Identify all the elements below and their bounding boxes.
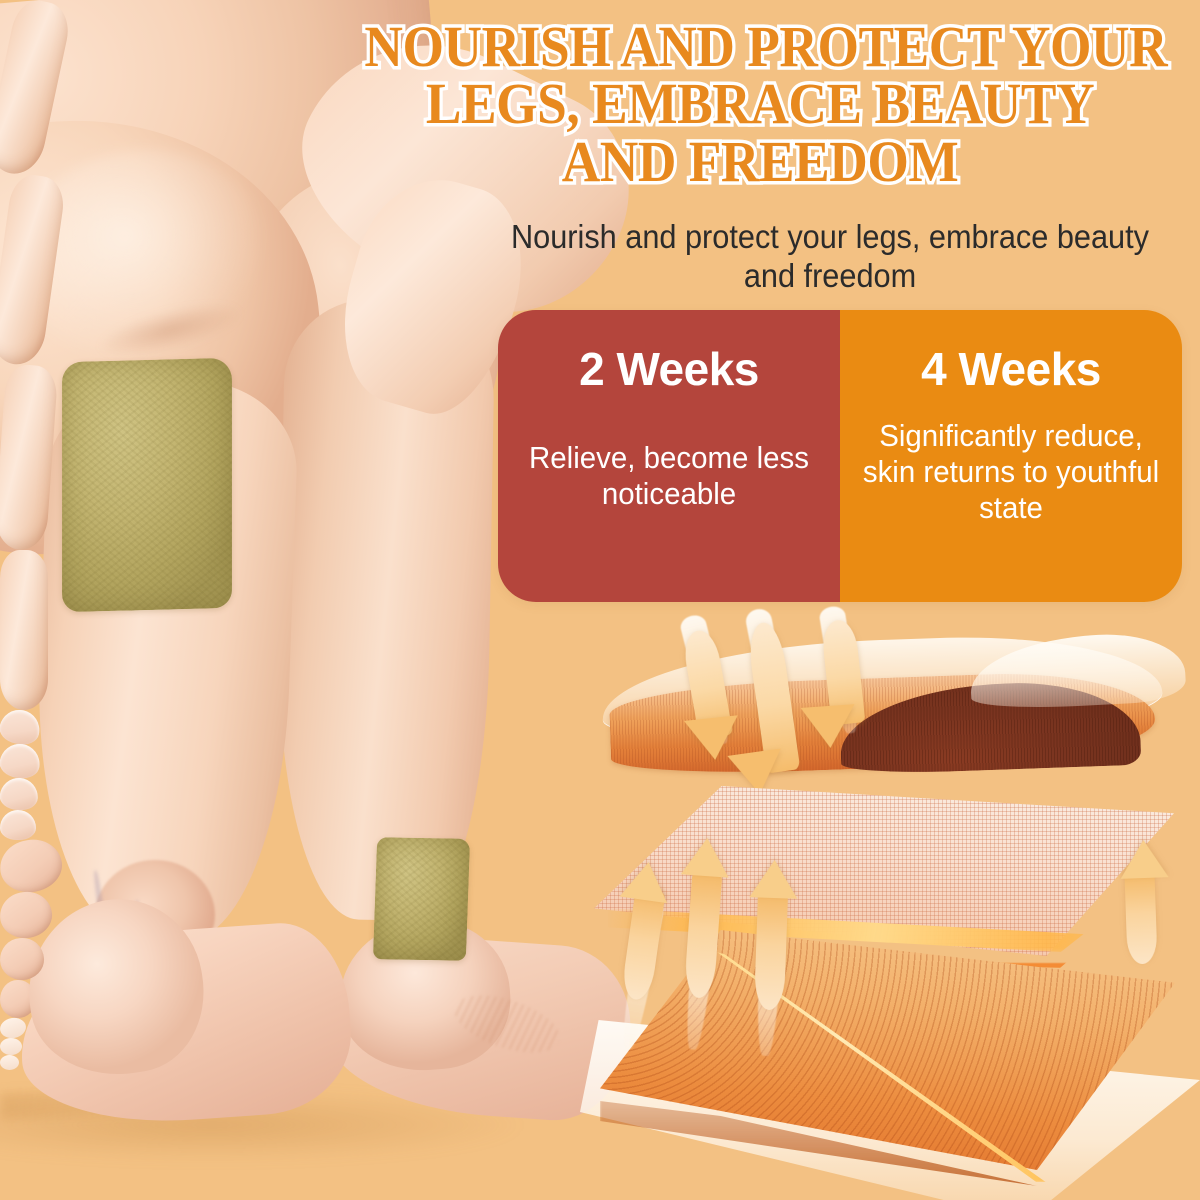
fingernail (0, 777, 39, 812)
toenail (0, 1038, 22, 1055)
panel-description-2-weeks: Relieve, become less noticeable (520, 440, 818, 512)
panel-description-4-weeks: Significantly reduce, skin returns to yo… (862, 418, 1160, 526)
arrow-up-head (749, 859, 798, 899)
arrow-up-head (1119, 839, 1168, 879)
arrow-down-head (801, 704, 858, 750)
arrow-up-tail (1124, 872, 1157, 965)
timeline-comparison-card: 2 Weeks Relieve, become less noticeable … (498, 310, 1182, 602)
toenail (0, 1055, 19, 1070)
headline: NOURISH AND PROTECT YOUR LEGS, EMBRACE B… (364, 18, 1155, 190)
headline-line-3: AND FREEDOM (364, 133, 1155, 190)
headline-line-2: LEGS, EMBRACE BEAUTY (364, 75, 1155, 132)
arrow-up-head (681, 836, 732, 877)
fingernail (0, 706, 43, 748)
product-poster: NOURISH AND PROTECT YOUR LEGS, EMBRACE B… (0, 0, 1200, 1200)
toe (0, 835, 66, 897)
headline-line-1: NOURISH AND PROTECT YOUR (364, 18, 1155, 75)
fingernail (0, 810, 36, 840)
subtitle: Nourish and protect your legs, embrace b… (495, 218, 1165, 296)
comparison-panel-4-weeks: 4 Weeks Significantly reduce, skin retur… (840, 310, 1182, 602)
panel-title-2-weeks: 2 Weeks (579, 346, 759, 392)
patch-layer-diagram (590, 600, 1200, 1140)
knee-patch (62, 358, 232, 613)
arrow-up-head (620, 859, 673, 903)
comparison-panel-2-weeks: 2 Weeks Relieve, become less noticeable (498, 310, 840, 602)
finger (0, 550, 48, 710)
toe (0, 889, 54, 940)
fingernail (0, 741, 42, 780)
panel-title-4-weeks: 4 Weeks (921, 346, 1101, 392)
ankle-patch (373, 837, 470, 961)
